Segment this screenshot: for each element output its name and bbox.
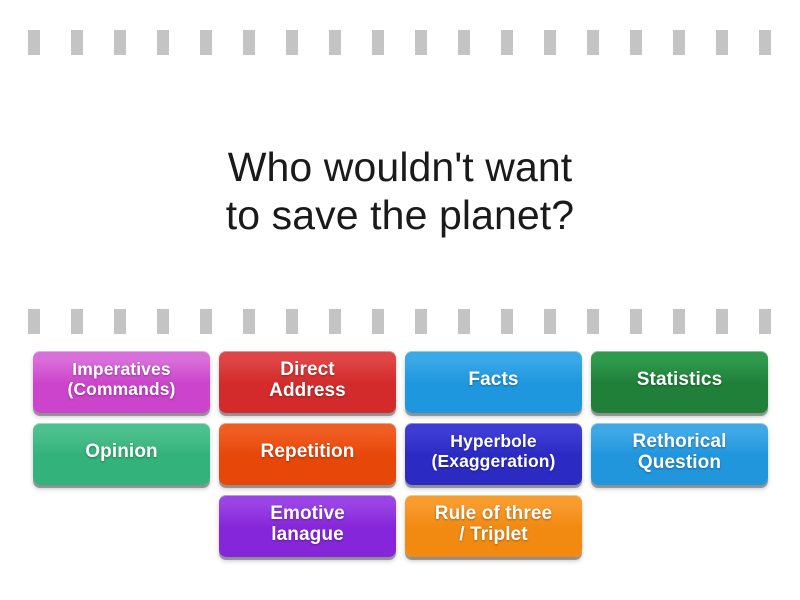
answer-tile-label: Emotive lanague (270, 503, 345, 546)
answer-tile[interactable]: Direct Address (219, 351, 396, 413)
dash-mark (716, 30, 728, 55)
dash-mark (673, 30, 685, 55)
dash-mark (114, 309, 126, 334)
dash-mark (759, 30, 771, 55)
dash-mark (673, 309, 685, 334)
answer-tile-label: Repetition (261, 441, 355, 462)
dash-mark (28, 30, 40, 55)
dashed-divider-top (0, 29, 800, 55)
dash-mark (157, 309, 169, 334)
answer-tile-label: Opinion (85, 441, 157, 462)
dash-mark (544, 30, 556, 55)
prompt-text: Who wouldn't want to save the planet? (226, 143, 574, 240)
dash-mark (759, 309, 771, 334)
dash-mark (157, 30, 169, 55)
dash-mark (544, 309, 556, 334)
answer-tile[interactable]: Imperatives (Commands) (33, 351, 210, 413)
answer-tile-label: Direct Address (269, 359, 346, 402)
dash-mark (458, 309, 470, 334)
dash-mark (286, 309, 298, 334)
dash-mark (243, 309, 255, 334)
answer-tile[interactable]: Emotive lanague (219, 495, 396, 557)
answer-tile-placeholder (591, 495, 768, 557)
dash-mark (630, 30, 642, 55)
answer-tile-label: Facts (468, 369, 518, 390)
dash-mark (200, 30, 212, 55)
answer-tile[interactable]: Facts (405, 351, 582, 413)
dash-mark (114, 30, 126, 55)
answer-tile-label: Imperatives (Commands) (68, 360, 176, 399)
answer-tile[interactable]: Hyperbole (Exaggeration) (405, 423, 582, 485)
answer-tile[interactable]: Statistics (591, 351, 768, 413)
dash-mark (243, 30, 255, 55)
dash-mark (415, 309, 427, 334)
answer-tile-label: Rule of three / Triplet (435, 503, 552, 546)
dash-mark (587, 309, 599, 334)
dash-mark (329, 309, 341, 334)
answer-tile-grid: Imperatives (Commands)Direct AddressFact… (33, 351, 768, 557)
dashed-divider-middle (0, 308, 800, 334)
dash-mark (501, 309, 513, 334)
dash-mark (200, 309, 212, 334)
dash-mark (630, 309, 642, 334)
dash-mark (329, 30, 341, 55)
dash-mark (587, 30, 599, 55)
activity-stage: Who wouldn't want to save the planet? Im… (0, 0, 800, 600)
dash-mark (372, 309, 384, 334)
answer-tile-placeholder (33, 495, 210, 557)
answer-tile[interactable]: Rethorical Question (591, 423, 768, 485)
prompt-area: Who wouldn't want to save the planet? (0, 96, 800, 286)
dash-mark (71, 309, 83, 334)
answer-tile-label: Rethorical Question (633, 431, 727, 474)
dash-mark (286, 30, 298, 55)
dash-mark (458, 30, 470, 55)
dash-mark (372, 30, 384, 55)
answer-tile-label: Hyperbole (Exaggeration) (432, 432, 556, 471)
answer-tile[interactable]: Repetition (219, 423, 396, 485)
dash-mark (415, 30, 427, 55)
dash-mark (716, 309, 728, 334)
dash-mark (501, 30, 513, 55)
dash-mark (28, 309, 40, 334)
answer-tile[interactable]: Rule of three / Triplet (405, 495, 582, 557)
dash-mark (71, 30, 83, 55)
answer-tile[interactable]: Opinion (33, 423, 210, 485)
answer-tile-label: Statistics (637, 369, 722, 390)
